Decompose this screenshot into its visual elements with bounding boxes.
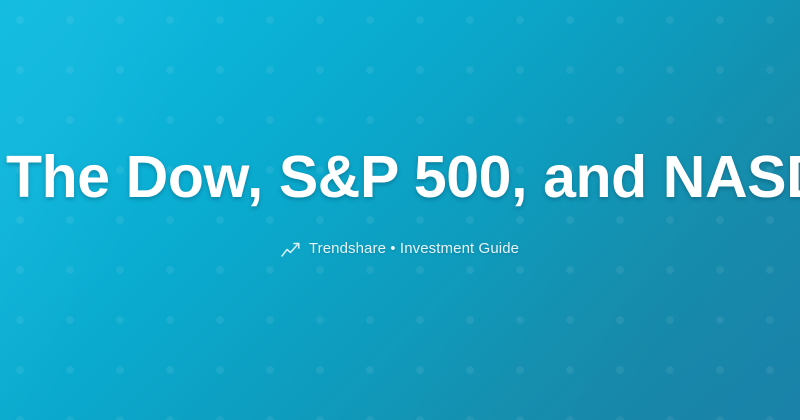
hero-banner: The Dow, S&P 500, and NASDAQ Trendshare … [0,0,800,420]
trend-chart-icon [281,242,300,257]
hero-subtitle-row: Trendshare • Investment Guide [0,240,800,258]
hero-content: The Dow, S&P 500, and NASDAQ Trendshare … [0,146,800,259]
hero-subtitle: Trendshare • Investment Guide [309,240,519,258]
page-title: The Dow, S&P 500, and NASDAQ [0,146,800,209]
